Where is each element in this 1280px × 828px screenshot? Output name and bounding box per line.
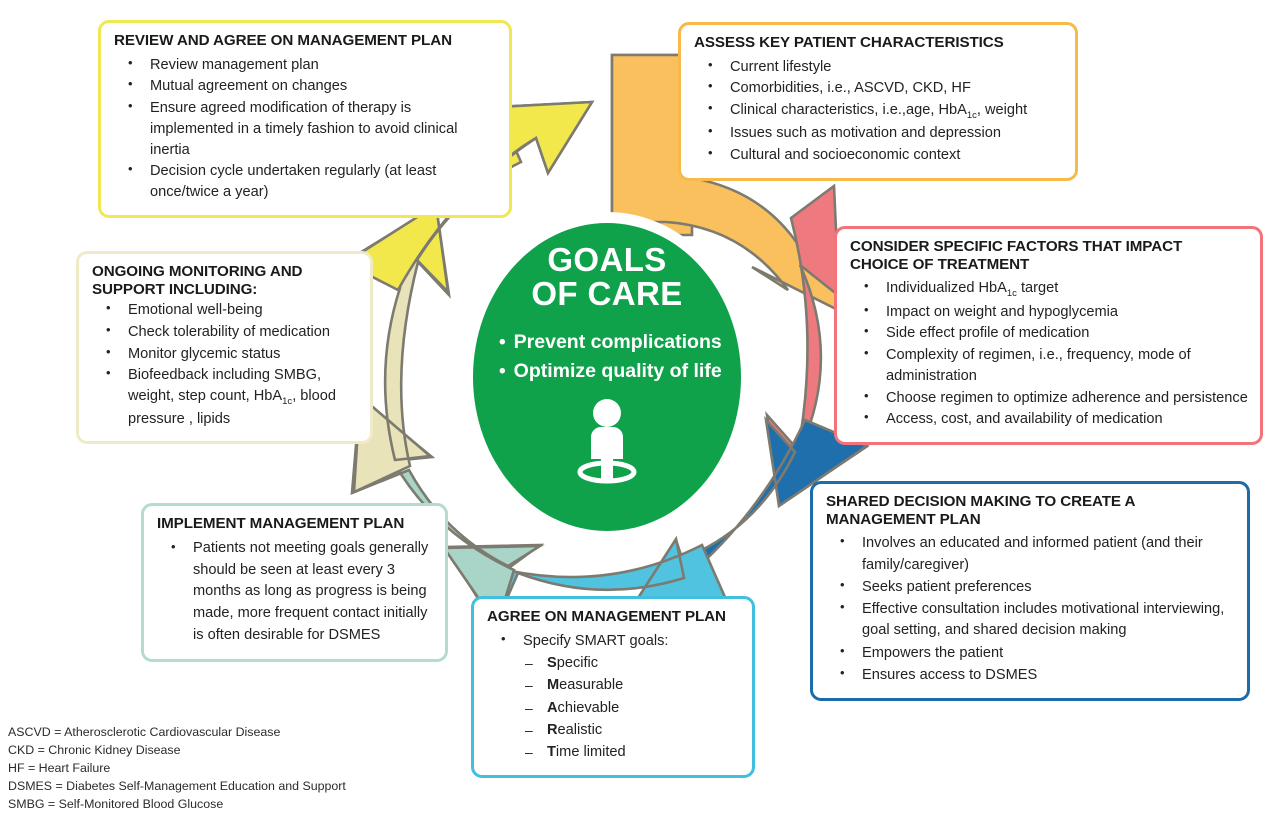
list-item: Effective consultation includes motivati… bbox=[826, 599, 1235, 642]
box-shared-decision-making: SHARED DECISION MAKING TO CREATE A MANAG… bbox=[810, 481, 1250, 701]
list-item: Access, cost, and availability of medica… bbox=[850, 409, 1248, 430]
list-item: Issues such as motivation and depression bbox=[694, 123, 1063, 144]
list-item: Comorbidities, i.e., ASCVD, CKD, HF bbox=[694, 78, 1063, 99]
list-item: Decision cycle undertaken regularly (at … bbox=[114, 161, 497, 202]
legend-line: HF = Heart Failure bbox=[8, 760, 346, 778]
smart-item: Specific bbox=[487, 653, 740, 674]
smart-item: Time limited bbox=[487, 742, 740, 763]
list-item: Check tolerability of medication bbox=[92, 322, 358, 343]
box-consider-specific-factors: CONSIDER SPECIFIC FACTORS THAT IMPACT CH… bbox=[834, 226, 1263, 445]
box-agree-on-management-plan: AGREE ON MANAGEMENT PLAN Specify SMART g… bbox=[471, 596, 755, 778]
list-item: Complexity of regimen, i.e., frequency, … bbox=[850, 345, 1248, 386]
list-item: Ensures access to DSMES bbox=[826, 665, 1235, 686]
box-bullet-list: Review management plan Mutual agreement … bbox=[114, 55, 497, 203]
box-bullet-list: Specify SMART goals: Specific Measurable… bbox=[487, 631, 740, 764]
list-item: Emotional well-being bbox=[92, 300, 358, 321]
list-item: Specify SMART goals: bbox=[487, 631, 740, 652]
list-item: Impact on weight and hypoglycemia bbox=[850, 302, 1248, 323]
list-item: Side effect profile of medication bbox=[850, 323, 1248, 344]
box-title: ASSESS KEY PATIENT CHARACTERISTICS bbox=[694, 34, 1063, 52]
legend-line: DSMES = Diabetes Self-Management Educati… bbox=[8, 778, 346, 796]
list-item: Monitor glycemic status bbox=[92, 344, 358, 365]
box-implement-management-plan: IMPLEMENT MANAGEMENT PLAN Patients not m… bbox=[141, 503, 448, 662]
list-item: Ensure agreed modification of therapy is… bbox=[114, 98, 497, 160]
list-item: Clinical characteristics, i.e.,age, HbA1… bbox=[694, 100, 1063, 122]
box-title: SHARED DECISION MAKING TO CREATE A MANAG… bbox=[826, 493, 1235, 528]
box-bullet-list: Current lifestyle Comorbidities, i.e., A… bbox=[694, 57, 1063, 166]
list-item: Review management plan bbox=[114, 55, 497, 76]
smart-item: Achievable bbox=[487, 698, 740, 719]
smart-item: Realistic bbox=[487, 720, 740, 741]
hub-bullet: • Optimize quality of life bbox=[499, 357, 741, 386]
box-title: IMPLEMENT MANAGEMENT PLAN bbox=[157, 515, 433, 533]
box-bullet-list: Emotional well-being Check tolerability … bbox=[92, 300, 358, 429]
list-item: Mutual agreement on changes bbox=[114, 76, 497, 97]
bullet-dot-icon: • bbox=[499, 362, 506, 381]
box-title: ONGOING MONITORING AND SUPPORT INCLUDING… bbox=[92, 263, 358, 298]
decision-cycle-diagram: GOALS OF CARE • Prevent complications • … bbox=[0, 0, 1280, 828]
box-title: CONSIDER SPECIFIC FACTORS THAT IMPACT CH… bbox=[850, 238, 1248, 273]
box-bullet-list: Patients not meeting goals generally sho… bbox=[157, 538, 433, 647]
person-icon bbox=[569, 398, 645, 484]
bullet-dot-icon: • bbox=[499, 333, 506, 352]
list-item: Seeks patient preferences bbox=[826, 577, 1235, 598]
box-bullet-list: Individualized HbA1c target Impact on we… bbox=[850, 278, 1248, 430]
legend-line: ASCVD = Atherosclerotic Cardiovascular D… bbox=[8, 724, 346, 742]
list-item: Empowers the patient bbox=[826, 643, 1235, 664]
legend-line: CKD = Chronic Kidney Disease bbox=[8, 742, 346, 760]
box-assess-key-patient-characteristics: ASSESS KEY PATIENT CHARACTERISTICS Curre… bbox=[678, 22, 1078, 181]
smart-item: Measurable bbox=[487, 675, 740, 696]
list-item: Involves an educated and informed patien… bbox=[826, 533, 1235, 576]
hub-bullet: • Prevent complications bbox=[499, 328, 741, 357]
legend-line: SMBG = Self-Monitored Blood Glucose bbox=[8, 796, 346, 814]
box-bullet-list: Involves an educated and informed patien… bbox=[826, 533, 1235, 686]
hub-bullet-list: • Prevent complications • Optimize quali… bbox=[473, 328, 741, 386]
list-item: Individualized HbA1c target bbox=[850, 278, 1248, 300]
box-ongoing-monitoring-and-support: ONGOING MONITORING AND SUPPORT INCLUDING… bbox=[76, 251, 373, 444]
box-title: AGREE ON MANAGEMENT PLAN bbox=[487, 608, 740, 626]
list-item: Current lifestyle bbox=[694, 57, 1063, 78]
hub-title: GOALS OF CARE bbox=[531, 243, 682, 310]
abbreviations-legend: ASCVD = Atherosclerotic Cardiovascular D… bbox=[8, 724, 346, 814]
list-item: Choose regimen to optimize adherence and… bbox=[850, 388, 1248, 409]
box-review-and-agree: REVIEW AND AGREE ON MANAGEMENT PLAN Revi… bbox=[98, 20, 512, 218]
goals-of-care-hub: GOALS OF CARE • Prevent complications • … bbox=[462, 212, 752, 542]
list-item: Patients not meeting goals generally sho… bbox=[157, 538, 433, 647]
list-item: Biofeedback including SMBG, weight, step… bbox=[92, 365, 358, 429]
box-title: REVIEW AND AGREE ON MANAGEMENT PLAN bbox=[114, 32, 497, 50]
list-item: Cultural and socioeconomic context bbox=[694, 145, 1063, 166]
